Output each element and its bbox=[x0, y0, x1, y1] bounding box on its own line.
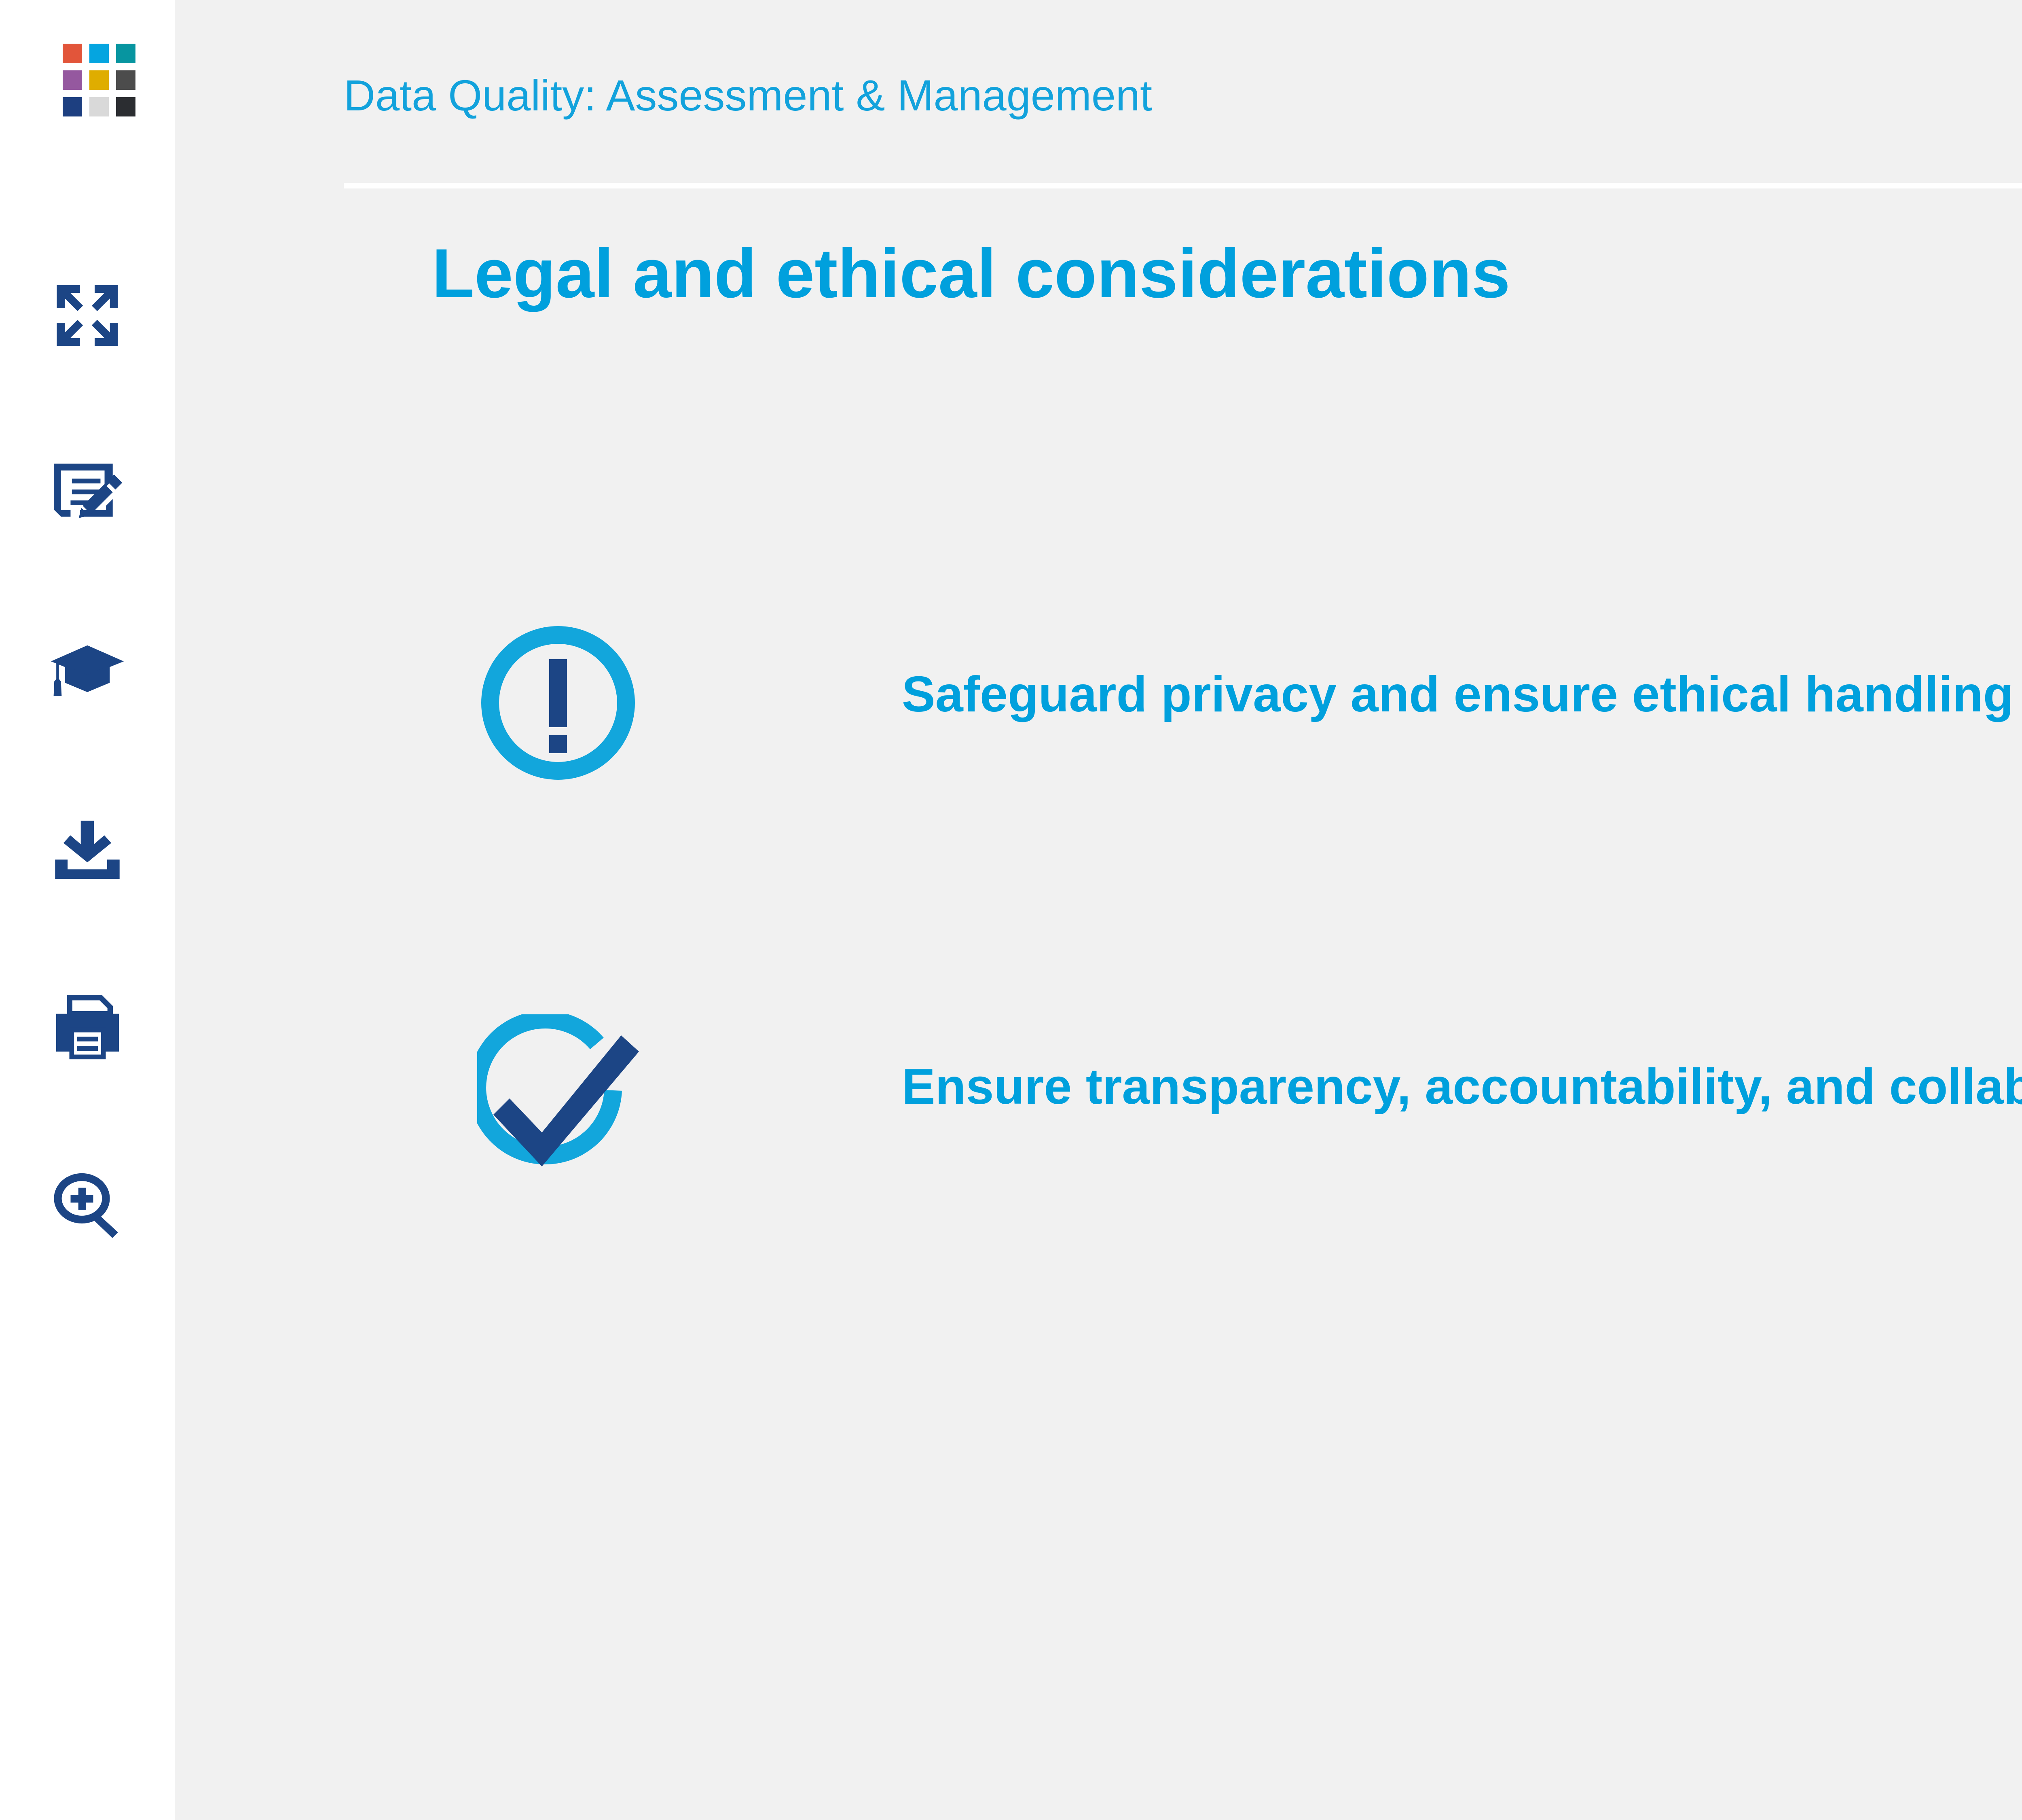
logo-cell-teal bbox=[116, 44, 135, 63]
zoom-in-icon bbox=[52, 1170, 123, 1241]
logo-cell-dark-gray bbox=[116, 70, 135, 90]
slide-header: Data Quality: Assessment & Management Sl… bbox=[175, 0, 2022, 183]
document-edit-icon bbox=[50, 458, 125, 529]
logo-cell-orange bbox=[63, 44, 82, 63]
logo-cell-near-black bbox=[116, 97, 135, 116]
logo-cell-light-blue bbox=[89, 44, 109, 63]
download-button[interactable] bbox=[0, 760, 175, 938]
tool-sidebar bbox=[0, 0, 175, 1820]
tool-button-list bbox=[0, 226, 175, 1294]
fullscreen-button[interactable] bbox=[0, 226, 175, 404]
printer-icon bbox=[52, 993, 123, 1062]
brand-logo-grid bbox=[63, 44, 135, 116]
edit-notes-button[interactable] bbox=[0, 404, 175, 582]
print-button[interactable] bbox=[0, 938, 175, 1116]
learning-button[interactable] bbox=[0, 582, 175, 760]
logo-cell-navy bbox=[63, 97, 82, 116]
bullet-icon-wrapper bbox=[477, 562, 768, 845]
download-icon bbox=[51, 816, 124, 883]
bullet-icon-wrapper bbox=[477, 954, 768, 1238]
bullet-text: Ensure transparency, accountability, and… bbox=[902, 1058, 2022, 1116]
header-divider bbox=[344, 183, 2022, 188]
logo-cell-light-gray bbox=[89, 97, 109, 116]
graduation-cap-icon bbox=[49, 641, 126, 702]
logo-cell-purple bbox=[63, 70, 82, 90]
slide-title: Legal and ethical considerations bbox=[432, 235, 1510, 312]
zoom-in-button[interactable] bbox=[0, 1116, 175, 1294]
list-item: Safeguard privacy and ensure ethical han… bbox=[477, 562, 2022, 954]
slide-bullet-list: Safeguard privacy and ensure ethical han… bbox=[477, 562, 2022, 1347]
list-item: Ensure transparency, accountability, and… bbox=[477, 954, 2022, 1347]
logo-cell-gold bbox=[89, 70, 109, 90]
fullscreen-expand-icon bbox=[51, 279, 124, 352]
exclamation-circle-icon bbox=[477, 622, 639, 786]
slide-viewer-app: Data Quality: Assessment & Management Sl… bbox=[0, 0, 2022, 1820]
bullet-text: Safeguard privacy and ensure ethical han… bbox=[902, 666, 2022, 724]
deck-title: Data Quality: Assessment & Management bbox=[344, 74, 1152, 117]
check-circle-icon bbox=[477, 1014, 647, 1178]
